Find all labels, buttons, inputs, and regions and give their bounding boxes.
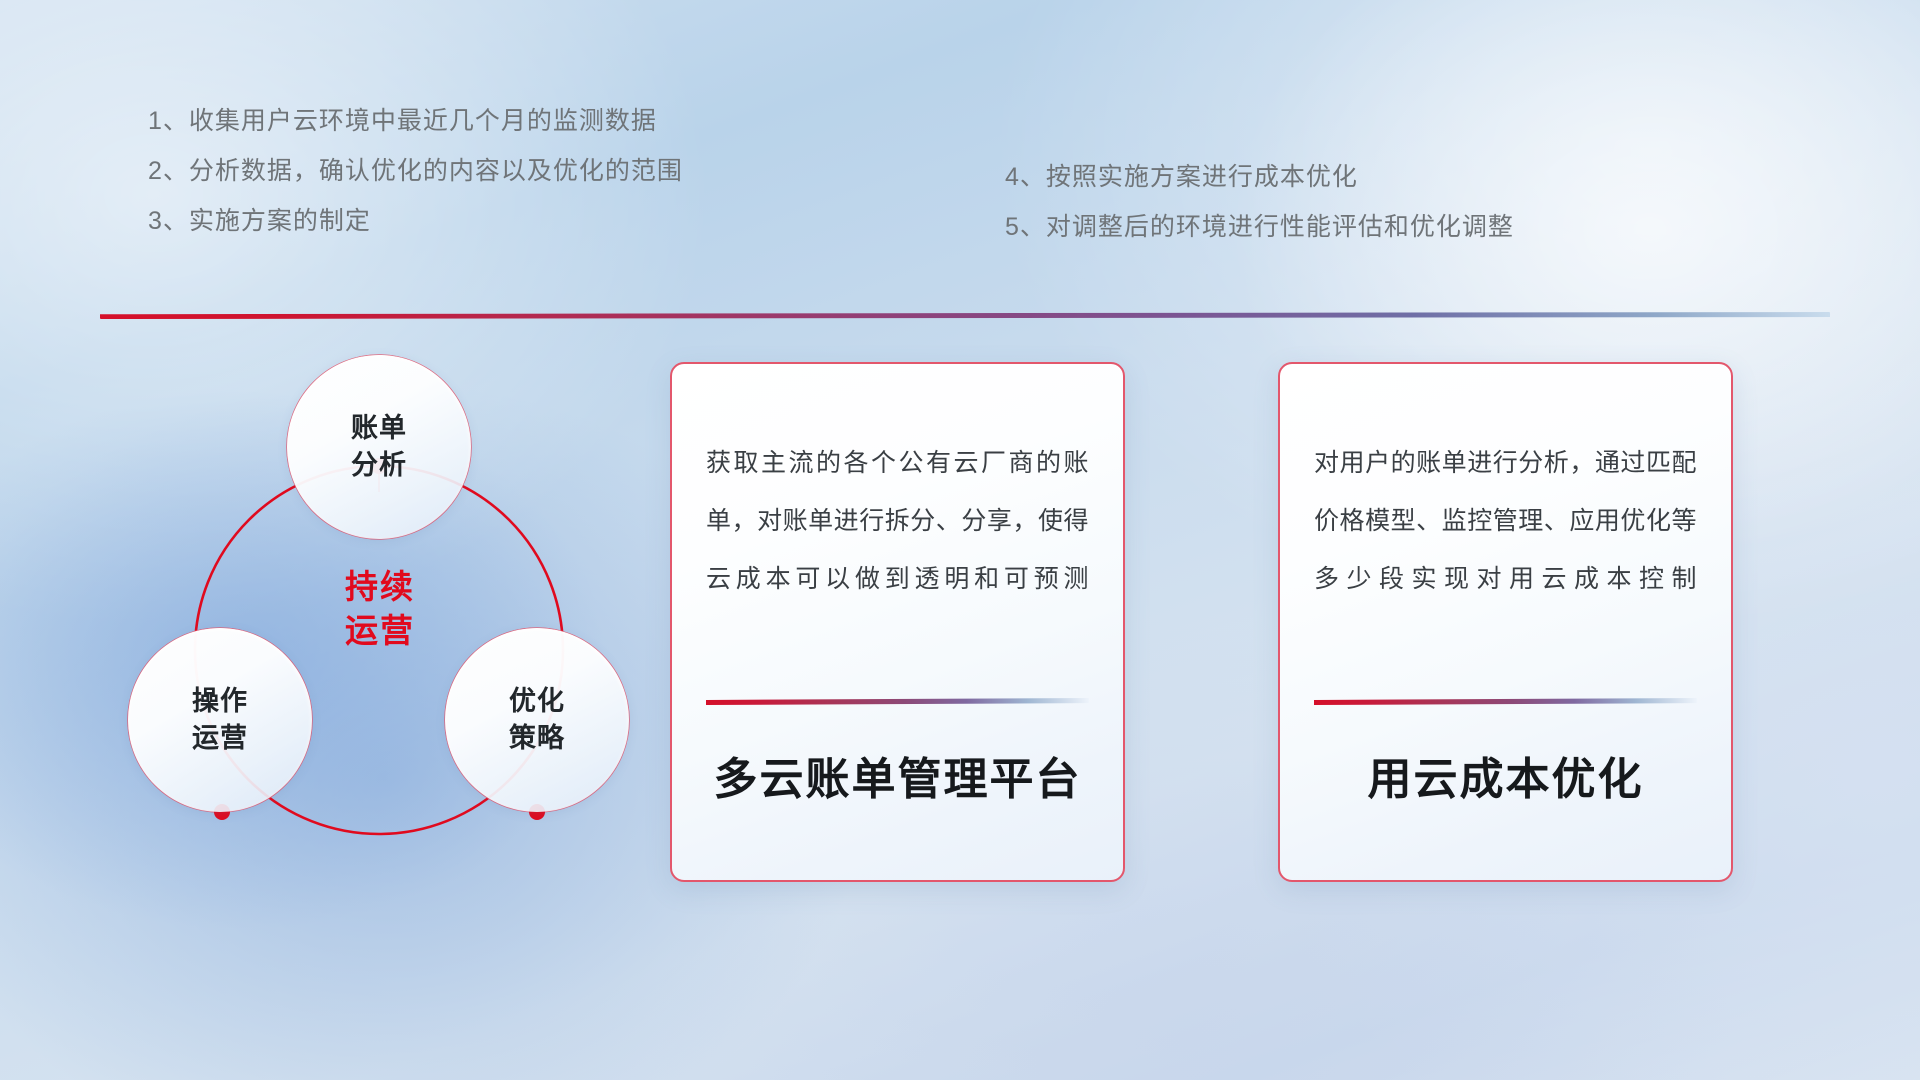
bubble-optimization-policy-line1: 优化 [509,683,565,720]
step-item-2: 2、分析数据，确认优化的内容以及优化的范围 [148,146,683,196]
card-1-title: 多云账单管理平台 [706,743,1089,807]
steps-right-column: 4、按照实施方案进行成本优化 5、对调整后的环境进行性能评估和优化调整 [1005,152,1514,252]
bubble-optimization-policy-line2: 策略 [509,720,565,757]
bubble-bill-analysis-line2: 分析 [351,447,407,484]
diagram-center-label: 持续 运营 [260,565,500,653]
step-item-5: 5、对调整后的环境进行性能评估和优化调整 [1005,202,1514,252]
card-multi-cloud-billing-platform[interactable]: 获取主流的各个公有云厂商的账单，对账单进行拆分、分享，使得云成本可以做到透明和可… [670,362,1125,882]
step-item-4: 4、按照实施方案进行成本优化 [1005,152,1514,202]
card-1-body: 获取主流的各个公有云厂商的账单，对账单进行拆分、分享，使得云成本可以做到透明和可… [706,434,1089,684]
bubble-optimization-policy[interactable]: 优化 策略 [445,628,629,812]
slide-canvas: 1、收集用户云环境中最近几个月的监测数据 2、分析数据，确认优化的内容以及优化的… [0,0,1920,1080]
bubble-operation-ops-line2: 运营 [192,720,248,757]
card-2-body: 对用户的账单进行分析，通过匹配价格模型、监控管理、应用优化等多少段实现对用云成本… [1314,434,1697,684]
bubble-bill-analysis-line1: 账单 [351,410,407,447]
card-cloud-cost-optimization[interactable]: 对用户的账单进行分析，通过匹配价格模型、监控管理、应用优化等多少段实现对用云成本… [1278,362,1733,882]
steps-left-column: 1、收集用户云环境中最近几个月的监测数据 2、分析数据，确认优化的内容以及优化的… [148,96,683,246]
bubble-operation-ops[interactable]: 操作 运营 [128,628,312,812]
continuous-operation-diagram: 账单 分析 操作 运营 优化 策略 持续 运营 [100,350,620,950]
step-item-3: 3、实施方案的制定 [148,196,683,246]
bubble-bill-analysis[interactable]: 账单 分析 [287,355,471,539]
bubble-operation-ops-line1: 操作 [192,683,248,720]
card-1-rule [706,698,1089,705]
step-item-1: 1、收集用户云环境中最近几个月的监测数据 [148,96,683,146]
section-divider [100,312,1830,319]
center-label-line1: 持续 [260,565,500,609]
center-label-line2: 运营 [260,609,500,653]
card-2-rule [1314,698,1697,705]
card-2-title: 用云成本优化 [1314,743,1697,807]
